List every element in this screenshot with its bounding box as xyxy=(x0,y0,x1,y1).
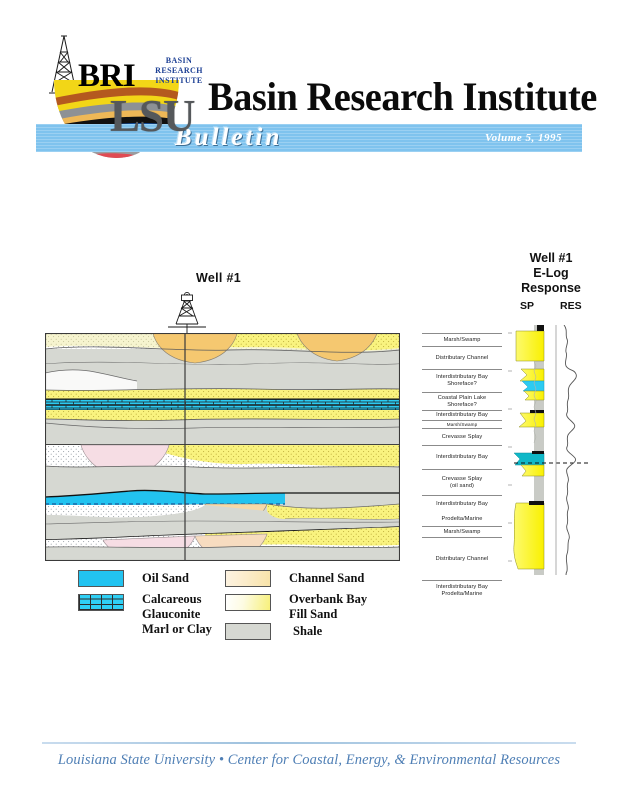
facies-label: Crevasse Splay xyxy=(422,476,502,483)
facies-row: Coastal Plain LakeShoreface? xyxy=(422,392,502,410)
elog-track-res-label: RES xyxy=(560,300,582,312)
facies-row: Crevasse Splay xyxy=(422,428,502,445)
facies-row: Interdistributary Bay xyxy=(422,445,502,469)
logo-lsu-text: LSU xyxy=(110,90,195,142)
facies-label: Interdistributary Bay xyxy=(422,454,502,461)
facies-row: Marsh/Swamp xyxy=(422,420,502,428)
facies-label: Distributary Channel xyxy=(422,355,502,362)
well-derrick-icon xyxy=(163,288,211,334)
facies-label: Interdistributary Bay xyxy=(422,374,502,381)
facies-row: Prodelta/Marine xyxy=(422,512,502,526)
facies-row: Distributary Channel xyxy=(422,346,502,369)
legend: Oil Sand Calcareous Glauconite Marl or C… xyxy=(78,570,408,660)
facies-label: Coastal Plain Lake xyxy=(422,395,502,402)
calcareous-marl-label-line-3: Marl or Clay xyxy=(142,622,212,636)
elog-header: Well #1 E-Log Response xyxy=(508,251,594,296)
facies-label: Shoreface? xyxy=(422,381,502,388)
logo-wordmark-text: BASIN RESEARCH INSTITUTE xyxy=(155,56,203,85)
oil-sand-swatch xyxy=(78,570,124,587)
facies-label: Marsh/Swamp xyxy=(422,422,502,427)
elog-track-sp-label: SP xyxy=(520,300,534,312)
facies-label: (oil sand) xyxy=(422,483,502,490)
calcareous-marl-swatch xyxy=(78,594,124,611)
elog-header-line-2: E-Log xyxy=(508,266,594,281)
overbank-label-line-2: Fill Sand xyxy=(289,607,337,621)
facies-row: Interdistributary BayShoreface? xyxy=(422,369,502,392)
elog-header-line-3: Response xyxy=(508,281,594,296)
facies-label: Distributary Channel xyxy=(422,556,502,563)
facies-label: Marsh/Swamp xyxy=(422,529,502,536)
oil-sand-label: Oil Sand xyxy=(142,571,189,585)
logo-wordmark: BASIN RESEARCH INSTITUTE xyxy=(146,56,212,86)
shale-swatch xyxy=(225,623,271,640)
facies-label: Interdistributary Bay xyxy=(422,412,502,419)
elog-header-line-1: Well #1 xyxy=(508,251,594,266)
facies-row: Marsh/Swamp xyxy=(422,333,502,346)
channel-sand-swatch xyxy=(225,570,271,587)
overbank-label-line-1: Overbank Bay xyxy=(289,592,367,606)
facies-row: Interdistributary BayProdelta/Marine xyxy=(422,580,502,600)
facies-label: Prodelta/Marine xyxy=(422,591,502,598)
calcareous-marl-label-line-2: Glauconite xyxy=(142,607,200,621)
facies-row: Interdistributary Bay xyxy=(422,495,502,512)
footer-divider xyxy=(42,742,576,744)
facies-label: Crevasse Splay xyxy=(422,434,502,441)
facies-table: Marsh/Swamp Distributary Channel Interdi… xyxy=(422,333,502,561)
shale-label: Shale xyxy=(293,624,322,638)
facies-label: Interdistributary Bay xyxy=(422,501,502,508)
facies-label: Interdistributary Bay xyxy=(422,584,502,591)
footer-text: Louisiana State University • Center for … xyxy=(0,752,618,769)
facies-label: Marsh/Swamp xyxy=(422,337,502,344)
calcareous-marl-label-line-1: Calcareous xyxy=(142,592,202,606)
overbank-bay-fill-sand-swatch xyxy=(225,594,271,611)
stratigraphic-figure: Well #1 xyxy=(0,0,618,800)
channel-sand-label: Channel Sand xyxy=(289,571,364,585)
facies-row: Crevasse Splay(oil sand) xyxy=(422,469,502,495)
cross-section-well-label: Well #1 xyxy=(196,271,241,285)
facies-label: Prodelta/Marine xyxy=(422,516,502,523)
cross-section-panel xyxy=(45,333,400,561)
facies-label: Shoreface? xyxy=(422,402,502,409)
elog-panel xyxy=(508,325,596,575)
facies-row: Interdistributary Bay xyxy=(422,410,502,420)
facies-row: Marsh/Swamp xyxy=(422,526,502,537)
facies-row: Distributary Channel xyxy=(422,537,502,580)
